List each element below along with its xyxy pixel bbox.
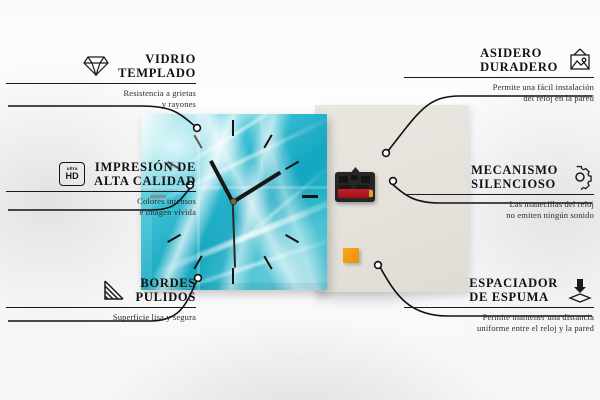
foam-spacer-icon (566, 276, 594, 304)
feature-bordes-pulidos: BORDESPULIDOS Superficie lisa y segura (6, 276, 196, 323)
feature-subtitle: Resistencia a grietasy rayones (6, 88, 196, 110)
feature-header: ASIDERODURADERO (404, 46, 594, 74)
mechanism-detail (351, 175, 358, 180)
feature-mecanismo-silencioso: MECANISMOSILENCIOSO Las manecillas del r… (404, 163, 594, 221)
feature-subtitle-line2: uniforme entre el reloj y la pared (477, 323, 594, 333)
feature-subtitle: Permite mantener una distanciauniforme e… (404, 312, 594, 334)
feature-subtitle-line1: Permite mantener una distancia (483, 312, 594, 322)
feature-subtitle: Permite una fácil instalacióndel reloj e… (404, 82, 594, 104)
battery (338, 189, 371, 198)
mechanism-detail (339, 176, 348, 183)
feature-header: MECANISMOSILENCIOSO (404, 163, 594, 191)
feature-subtitle-line1: Resistencia a grietas (123, 88, 196, 98)
feature-title: BORDESPULIDOS (136, 276, 196, 304)
feature-rule (6, 307, 196, 308)
feature-subtitle-line2: e imagen vívida (139, 207, 196, 217)
feature-title-line1: MECANISMO (471, 163, 558, 177)
tick-6 (232, 268, 234, 284)
feature-header: ultra HD IMPRESIÓN DEALTA CALIDAD (6, 160, 196, 188)
feature-vidrio-templado: VIDRIOTEMPLADO Resistencia a grietasy ra… (6, 52, 196, 110)
feature-subtitle-line2: del reloj en la pared (523, 93, 594, 103)
feature-title-line1: VIDRIO (145, 52, 196, 66)
feature-rule (6, 191, 196, 192)
feature-subtitle: Superficie lisa y segura (6, 312, 196, 323)
polished-edge-icon (100, 276, 128, 304)
mechanism-detail (361, 176, 370, 183)
feature-title: ASIDERODURADERO (480, 46, 558, 74)
feature-title-line1: ASIDERO (480, 46, 542, 60)
feature-title-line2: PULIDOS (136, 290, 196, 304)
feature-espaciador-espuma: ESPACIADORDE ESPUMA Permite mantener una… (404, 276, 594, 334)
picture-hanger-icon (566, 46, 594, 74)
feature-subtitle: Las manecillas del relojno emiten ningún… (404, 199, 594, 221)
feature-rule (404, 194, 594, 195)
tick-12 (232, 120, 234, 136)
foam-spacer (343, 248, 359, 263)
feature-impresion-alta-calidad: ultra HD IMPRESIÓN DEALTA CALIDAD Colore… (6, 160, 196, 218)
diamond-icon (82, 52, 110, 80)
feature-rule (404, 77, 594, 78)
ultra-hd-badge-icon: ultra HD (58, 160, 86, 188)
feature-header: VIDRIOTEMPLADO (6, 52, 196, 80)
battery-positive-tip (369, 190, 373, 197)
feature-subtitle-line1: Superficie lisa y segura (113, 312, 196, 322)
feature-subtitle-line1: Colores intensos (137, 196, 196, 206)
feature-subtitle-line2: y rayones (162, 99, 196, 109)
tick-3 (302, 195, 318, 198)
feature-title: ESPACIADORDE ESPUMA (469, 276, 558, 304)
feature-title-line2: SILENCIOSO (471, 177, 556, 191)
hd-badge: ultra HD (59, 162, 85, 186)
feature-title-line1: ESPACIADOR (469, 276, 558, 290)
feature-title-line2: ALTA CALIDAD (94, 174, 196, 188)
feature-title: MECANISMOSILENCIOSO (471, 163, 558, 191)
feature-subtitle: Colores intensose imagen vívida (6, 196, 196, 218)
feature-title: IMPRESIÓN DEALTA CALIDAD (94, 160, 196, 188)
feature-rule (404, 307, 594, 308)
feature-title-line1: IMPRESIÓN DE (95, 160, 196, 174)
hd-badge-hd-text: HD (65, 172, 78, 181)
feature-subtitle-line2: no emiten ningún sonido (506, 210, 594, 220)
feature-asidero-duradero: ASIDERODURADERO Permite una fácil instal… (404, 46, 594, 104)
clock-mechanism (335, 167, 375, 202)
feature-title-line2: DE ESPUMA (469, 290, 549, 304)
feature-title-line2: TEMPLADO (118, 66, 196, 80)
feature-title: VIDRIOTEMPLADO (118, 52, 196, 80)
feature-rule (6, 83, 196, 84)
feature-title-line2: DURADERO (480, 60, 558, 74)
gear-icon (566, 163, 594, 191)
feature-header: BORDESPULIDOS (6, 276, 196, 304)
feature-subtitle-line1: Permite una fácil instalación (493, 82, 594, 92)
feature-title-line1: BORDES (140, 276, 196, 290)
hands-center-cap (230, 198, 237, 205)
feature-subtitle-line1: Las manecillas del reloj (509, 199, 594, 209)
feature-header: ESPACIADORDE ESPUMA (404, 276, 594, 304)
infographic-canvas: VIDRIOTEMPLADO Resistencia a grietasy ra… (0, 0, 600, 400)
